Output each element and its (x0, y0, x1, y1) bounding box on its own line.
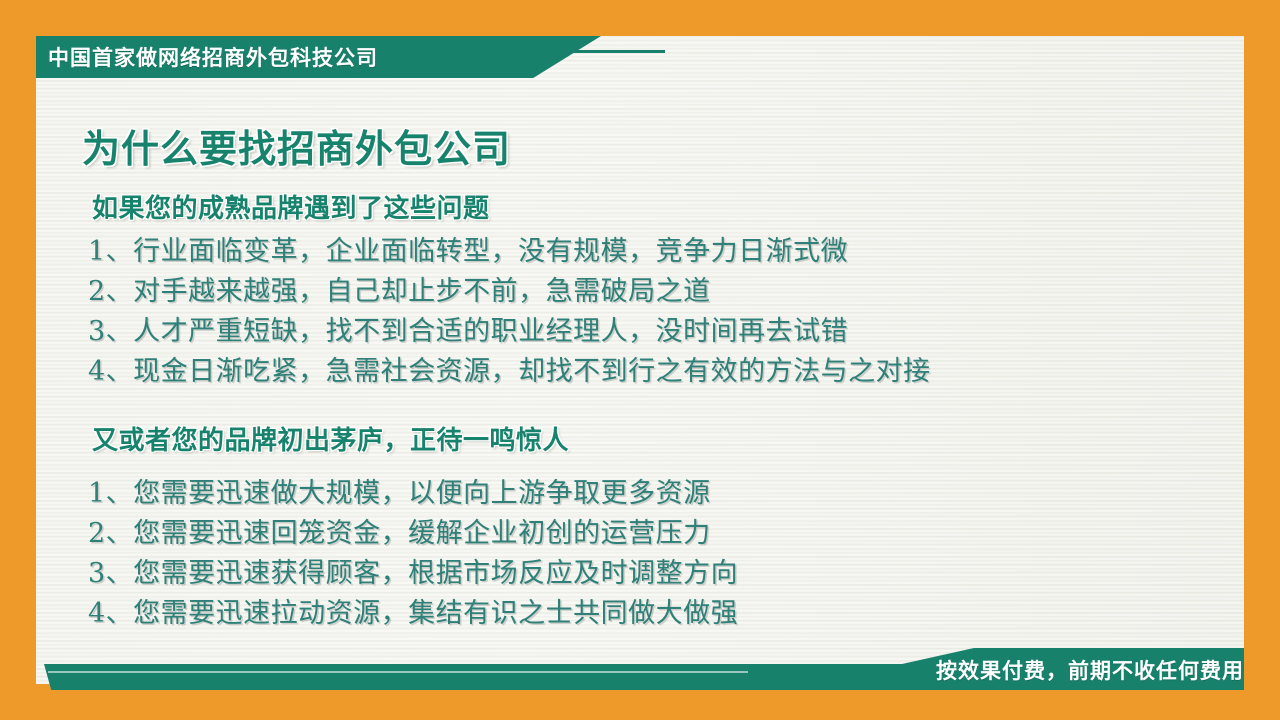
header-accent-rule (545, 50, 665, 53)
list-item: 4、现金日渐吃紧，急需社会资源，却找不到行之有效的方法与之对接 (88, 352, 931, 392)
header-band-title: 中国首家做网络招商外包科技公司 (48, 44, 518, 74)
list-item: 1、行业面临变革，企业面临转型，没有规模，竞争力日渐式微 (88, 232, 931, 272)
list-item: 4、您需要迅速拉动资源，集结有识之士共同做大做强 (88, 594, 738, 634)
footer-hairline (48, 671, 748, 673)
footer-tagline: 按效果付费，前期不收任何费用 (936, 655, 1244, 685)
slide-root: 中国首家做网络招商外包科技公司 为什么要找招商外包公司 如果您的成熟品牌遇到了这… (0, 0, 1280, 720)
section-heading-mature-brand: 如果您的成熟品牌遇到了这些问题 (92, 188, 490, 225)
bullet-list-mature-brand: 1、行业面临变革，企业面临转型，没有规模，竞争力日渐式微 2、对手越来越强，自己… (88, 232, 931, 392)
list-item: 3、人才严重短缺，找不到合适的职业经理人，没时间再去试错 (88, 312, 931, 352)
bullet-list-new-brand: 1、您需要迅速做大规模，以便向上游争取更多资源 2、您需要迅速回笼资金，缓解企业… (88, 474, 738, 634)
list-item: 1、您需要迅速做大规模，以便向上游争取更多资源 (88, 474, 738, 514)
list-item: 2、对手越来越强，自己却止步不前，急需破局之道 (88, 272, 931, 312)
list-item: 2、您需要迅速回笼资金，缓解企业初创的运营压力 (88, 514, 738, 554)
section-heading-new-brand: 又或者您的品牌初出茅庐，正待一鸣惊人 (92, 420, 569, 457)
page-title: 为什么要找招商外包公司 (82, 118, 511, 173)
list-item: 3、您需要迅速获得顾客，根据市场反应及时调整方向 (88, 554, 738, 594)
